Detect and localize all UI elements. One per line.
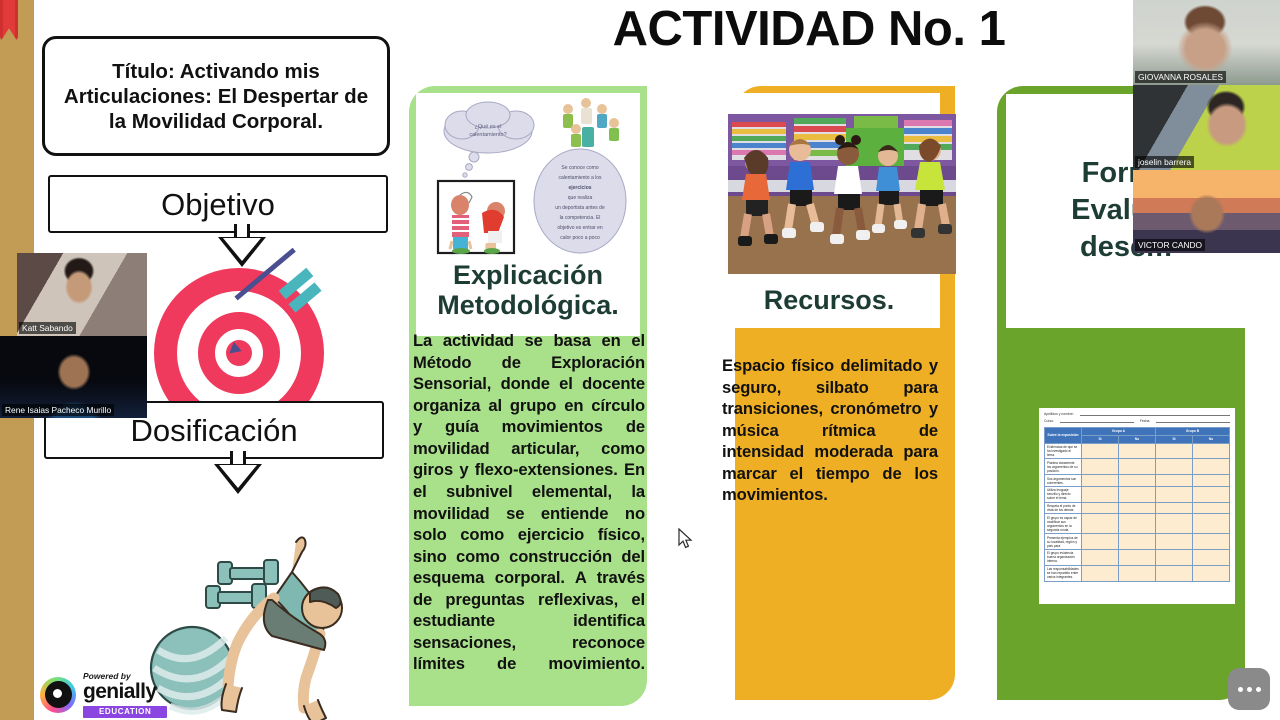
svg-text:Se conoce como: Se conoce como bbox=[561, 165, 598, 171]
svg-text:calor poco a poco: calor poco a poco bbox=[560, 235, 600, 241]
table-row: Las responsabilidades se han repartido e… bbox=[1045, 565, 1230, 581]
genially-branding[interactable]: Powered by genially EDUCATION bbox=[40, 672, 167, 718]
rubric-row-label: El grupo evidencia buena organización in… bbox=[1045, 550, 1082, 566]
svg-text:que realiza: que realiza bbox=[568, 195, 593, 201]
rubric-row-label: Plantea claramente los argumentos de su … bbox=[1045, 459, 1082, 475]
rubric-row-label: Evidencias de que se ha investigado el t… bbox=[1045, 443, 1082, 459]
rubric-table: Sobre la exposición Grupo A Grupo B Si N… bbox=[1044, 427, 1230, 582]
video-tile[interactable]: joselin barrera bbox=[1133, 85, 1280, 170]
rubric-row-label: El grupo es capaz de modificar sus argum… bbox=[1045, 514, 1082, 534]
table-row: Presenta ejemplos de su localidad, regió… bbox=[1045, 534, 1230, 550]
table-row: Respeta el punto de vista de los demás. bbox=[1045, 502, 1230, 514]
card-explicacion-heading: Explicación Metodológica. bbox=[416, 260, 640, 320]
activity-title-box: Título: Activando mis Articulaciones: El… bbox=[42, 36, 390, 156]
svg-text:un deportista antes de: un deportista antes de bbox=[555, 205, 605, 211]
ellipsis-icon bbox=[1238, 687, 1243, 692]
participant-name: Katt Sabando bbox=[19, 322, 76, 334]
card-explicacion-body: La actividad se basa en el Método de Exp… bbox=[413, 330, 645, 675]
rubric-field-apellidos: Apellidos y nombre: bbox=[1044, 412, 1074, 416]
svg-text:la competencia. El: la competencia. El bbox=[560, 215, 601, 221]
ellipsis-icon bbox=[1247, 687, 1252, 692]
rubric-row-label: Sus argumentos son coherentes. bbox=[1045, 475, 1082, 487]
rubric-field-curso: Curso: bbox=[1044, 419, 1054, 423]
video-tile[interactable]: Rene Isaias Pacheco Murillo bbox=[0, 336, 147, 418]
stretching-person-illustration bbox=[144, 516, 374, 720]
arrow-down-icon-2 bbox=[212, 451, 264, 499]
participant-name: GIOVANNA ROSALES bbox=[1135, 71, 1226, 83]
table-row: Evidencias de que se ha investigado el t… bbox=[1045, 443, 1230, 459]
presentation-viewer: ‹ ACTIVIDAD No. 1 Título: Activando mis … bbox=[0, 0, 1280, 720]
rubric-col-criteria: Sobre la exposición bbox=[1045, 428, 1082, 444]
rubric-col-group-a: Grupo A bbox=[1082, 428, 1156, 436]
video-tile[interactable]: Katt Sabando bbox=[17, 253, 147, 336]
svg-text:¿Qué es el: ¿Qué es el bbox=[475, 124, 502, 130]
activity-title-text: Título: Activando mis Articulaciones: El… bbox=[55, 59, 377, 134]
rubric-sub-b-yes: Si bbox=[1156, 435, 1193, 443]
rubric-sub-a-yes: Si bbox=[1082, 435, 1119, 443]
genially-logo-icon bbox=[40, 677, 76, 713]
rubric-sub-a-no: No bbox=[1119, 435, 1156, 443]
rubric-header-row: Sobre la exposición Grupo A Grupo B bbox=[1045, 428, 1230, 436]
bookmark-ribbon-icon bbox=[0, 0, 18, 42]
mouse-cursor bbox=[678, 528, 694, 550]
table-row: Sus argumentos son coherentes. bbox=[1045, 475, 1230, 487]
svg-text:calentamiento?: calentamiento? bbox=[469, 132, 506, 138]
evaluation-rubric-sheet: Apellidos y nombre: Curso: Fecha: Sobre … bbox=[1039, 408, 1235, 604]
slide-canvas: ACTIVIDAD No. 1 Título: Activando mis Ar… bbox=[34, 0, 1280, 720]
genially-wordmark: genially bbox=[83, 681, 167, 702]
participant-name: VICTOR CANDO bbox=[1135, 239, 1205, 251]
card-recursos-body: Espacio físico delimitado y seguro, silb… bbox=[722, 355, 938, 506]
more-options-button[interactable] bbox=[1228, 668, 1270, 710]
dosificacion-label: Dosificación bbox=[130, 415, 297, 446]
table-row: El grupo es capaz de modificar sus argum… bbox=[1045, 514, 1230, 534]
video-participants-panel: GIOVANNA ROSALES joselin barrera VICTOR … bbox=[1133, 0, 1280, 418]
children-exercising-photo bbox=[728, 114, 956, 274]
rubric-field-fecha: Fecha: bbox=[1140, 419, 1150, 423]
rubric-sub-b-no: No bbox=[1193, 435, 1230, 443]
education-badge: EDUCATION bbox=[83, 706, 167, 718]
arrow-down-icon-1 bbox=[216, 224, 268, 272]
participant-name: Rene Isaias Pacheco Murillo bbox=[2, 404, 114, 416]
page-title: ACTIVIDAD No. 1 bbox=[544, 0, 1074, 62]
svg-text:objetivo es entrar en: objetivo es entrar en bbox=[557, 225, 603, 231]
rubric-row-label: Respeta el punto de vista de los demás. bbox=[1045, 502, 1082, 514]
rubric-row-label: Las responsabilidades se han repartido e… bbox=[1045, 565, 1082, 581]
rubric-col-group-b: Grupo B bbox=[1156, 428, 1230, 436]
rubric-row-label: Utiliza lenguaje sencillo y directo sobr… bbox=[1045, 486, 1082, 502]
calentamiento-infographic: ¿Qué es el calentamiento? bbox=[416, 93, 640, 259]
svg-text:ejercicios: ejercicios bbox=[568, 185, 591, 191]
participant-name: joselin barrera bbox=[1135, 156, 1194, 168]
objetivo-label: Objetivo bbox=[161, 189, 275, 220]
card-recursos-heading: Recursos. bbox=[718, 285, 940, 315]
table-row: El grupo evidencia buena organización in… bbox=[1045, 550, 1230, 566]
video-tile[interactable]: GIOVANNA ROSALES bbox=[1133, 0, 1280, 85]
table-row: Utiliza lenguaje sencillo y directo sobr… bbox=[1045, 486, 1230, 502]
ellipsis-icon bbox=[1256, 687, 1261, 692]
table-row: Plantea claramente los argumentos de su … bbox=[1045, 459, 1230, 475]
rubric-row-label: Presenta ejemplos de su localidad, regió… bbox=[1045, 534, 1082, 550]
video-tile[interactable]: VICTOR CANDO bbox=[1133, 170, 1280, 253]
svg-text:calentamiento a los: calentamiento a los bbox=[558, 175, 602, 181]
